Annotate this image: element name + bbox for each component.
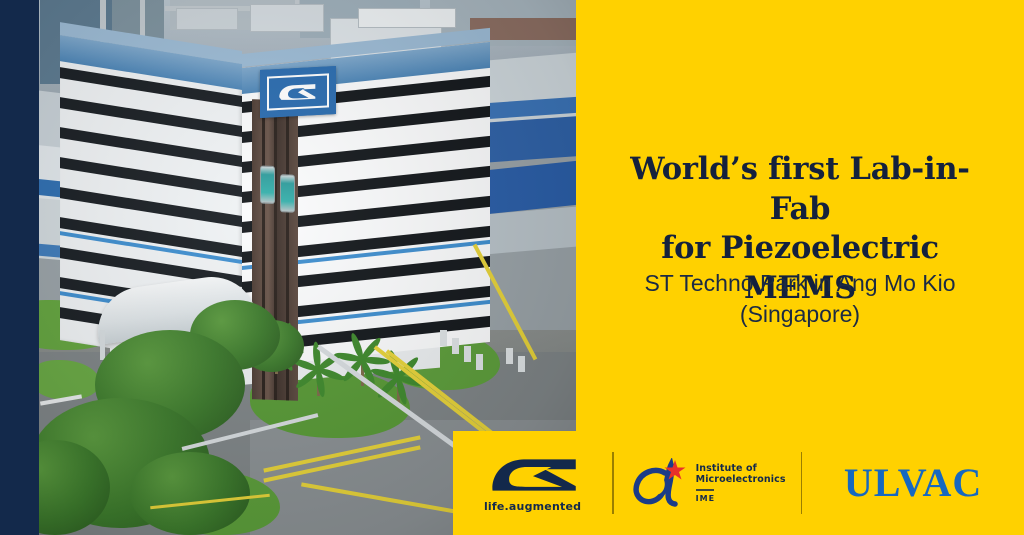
left-navy-bar (0, 0, 39, 535)
logo-astar-ime[interactable]: Institute of Microelectronics IME (614, 431, 801, 535)
astar-a-star-icon (629, 458, 689, 508)
crosswalk-stripe (452, 338, 459, 354)
ime-divider-rule (696, 489, 714, 490)
ime-line-2: Microelectronics (696, 474, 786, 485)
crosswalk-stripe (464, 346, 471, 362)
canopy-support-leg (100, 330, 105, 360)
headline-line-1: World’s first Lab-in-Fab (600, 150, 1000, 229)
rooftop-hvac-unit (358, 8, 456, 28)
st-lockup: life.augmented (484, 454, 581, 513)
crosswalk-stripe (476, 354, 483, 370)
partner-logo-bar: life.augmented Institute of Microelectro… (453, 431, 1024, 535)
crosswalk-stripe (518, 356, 525, 372)
subtitle: ST Techno Park in Ang Mo Kio (Singapore) (600, 268, 1000, 331)
logo-stmicroelectronics[interactable]: life.augmented (453, 431, 612, 535)
tree-canopy (130, 452, 250, 535)
crosswalk-stripe (506, 348, 513, 364)
st-sign-frame (267, 73, 329, 110)
rooftop-hvac-unit (176, 8, 238, 30)
st-logo-icon (278, 81, 318, 103)
ime-abbreviation: IME (696, 494, 786, 503)
logo-divider-1 (612, 452, 613, 514)
st-tagline: life.augmented (484, 500, 581, 513)
banner-root: World’s first Lab-in-Fab for Piezoelectr… (0, 0, 1024, 535)
ulvac-wordmark: ULVAC (844, 463, 982, 503)
subtitle-line-1: ST Techno Park in Ang Mo Kio (600, 268, 1000, 299)
rooftop-hvac-unit (250, 4, 324, 32)
st-rooftop-sign (260, 66, 336, 118)
glass-elevator-car (260, 165, 275, 204)
st-logo-icon (487, 454, 579, 496)
ime-line-1: Institute of (696, 463, 786, 474)
logo-divider-2 (801, 452, 802, 514)
ime-text-block: Institute of Microelectronics IME (696, 463, 786, 503)
crosswalk-stripe (440, 330, 447, 346)
logo-ulvac[interactable]: ULVAC (802, 431, 1024, 535)
subtitle-line-2: (Singapore) (600, 299, 1000, 330)
ime-lockup: Institute of Microelectronics IME (629, 458, 786, 508)
glass-elevator-car (280, 174, 295, 213)
